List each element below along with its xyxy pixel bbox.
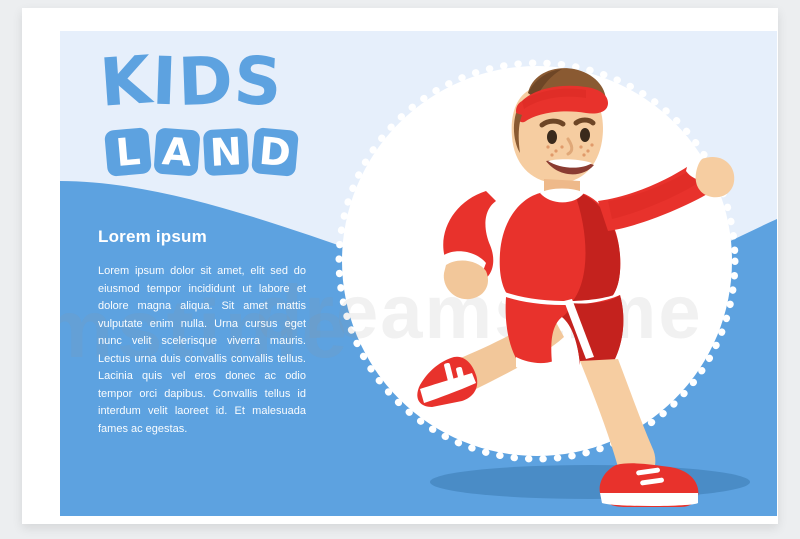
logo-letter-k: K — [98, 47, 155, 116]
logo-letter-s: S — [232, 48, 284, 116]
logo-line-kids: KIDS — [100, 49, 282, 115]
logo-letter-d: D — [177, 48, 235, 116]
logo-line-land: L A N D — [106, 129, 297, 175]
boy-right-leg — [580, 359, 698, 507]
banner-artwork: dreamstime — [60, 31, 777, 516]
logo-tile-n: N — [203, 128, 249, 176]
boy-head — [512, 68, 608, 183]
logo-letter-i: I — [151, 49, 179, 116]
boy-left-arm — [443, 191, 496, 299]
logo-tile-l: L — [104, 127, 152, 177]
text-block: Lorem ipsum Lorem ipsum dolor sit amet, … — [98, 227, 306, 438]
logo-tile-a: A — [153, 128, 200, 177]
logo-tile-d: D — [251, 127, 299, 177]
brand-logo[interactable]: KIDS L A N D — [100, 49, 380, 199]
boy-right-arm — [598, 157, 734, 231]
body-paragraph: Lorem ipsum dolor sit amet, elit sed do … — [98, 263, 306, 438]
section-heading: Lorem ipsum — [98, 227, 306, 247]
banner-stage: dreamstime — [0, 0, 800, 539]
running-boy-illustration — [336, 41, 756, 511]
banner-card-frame: dreamstime — [22, 8, 778, 524]
